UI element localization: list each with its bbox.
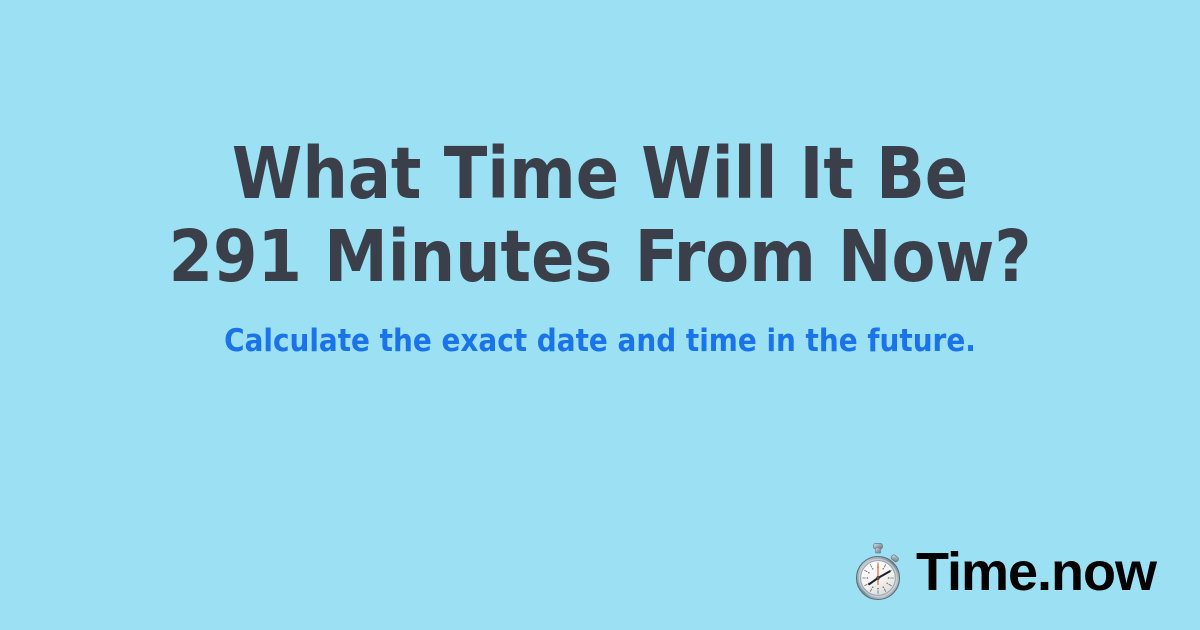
page-title: What Time Will It Be 291 Minutes From No… [0,132,1200,298]
page-title-line-2: 291 Minutes From Now? [0,215,1200,298]
page-subtitle: Calculate the exact date and time in the… [0,322,1200,360]
hero-section: What Time Will It Be 291 Minutes From No… [0,132,1200,360]
brand-logo[interactable]: Time.now [850,542,1156,602]
page-title-line-1: What Time Will It Be [0,132,1200,215]
brand-name: Time.now [916,543,1156,601]
stopwatch-icon [850,542,906,602]
social-card: What Time Will It Be 291 Minutes From No… [0,0,1200,630]
